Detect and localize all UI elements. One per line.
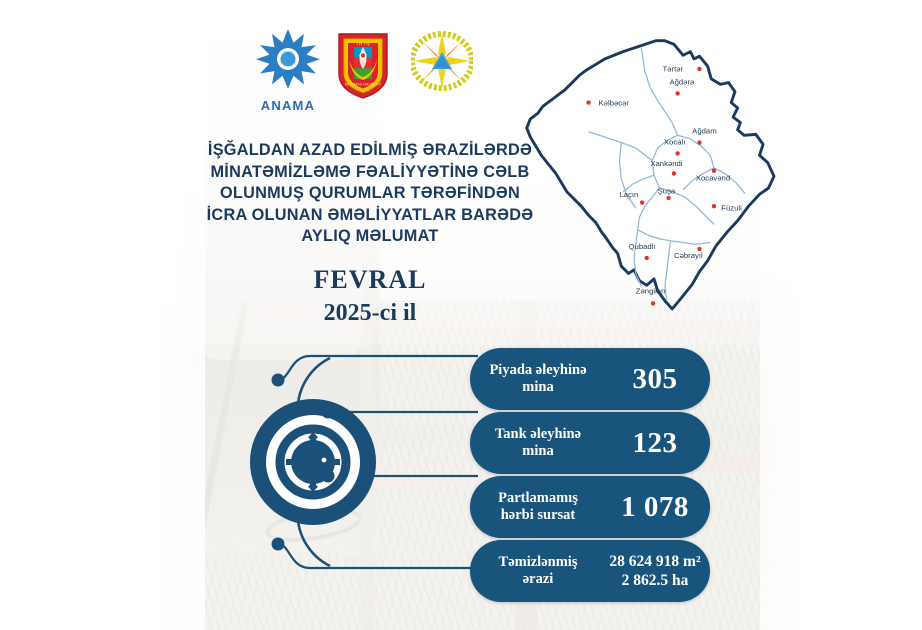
stat-value-area-sqm: 28 624 918 m² — [609, 553, 700, 570]
shield-emblem-icon: İ R İ N MÜDAFİƏ NAZİRLİYİ — [335, 30, 391, 100]
mine-target-icon — [255, 404, 371, 520]
map-label-zengilan: Zəngilan — [636, 286, 666, 295]
stat-value: 1 078 — [600, 491, 710, 523]
emergency-situations-emblem — [411, 30, 473, 97]
stat-value: 28 624 918 m² 2 862.5 ha — [600, 552, 710, 590]
photo-veil-left — [0, 0, 205, 630]
stat-label-line-2: mina — [522, 443, 553, 459]
stat-pill-uxo[interactable]: Partlamamış hərbi sursat 1 078 — [470, 476, 710, 538]
stat-label-line-2: ərazi — [523, 571, 554, 587]
stat-label-line-1: Təmizlənmiş — [499, 554, 578, 570]
headline-line-5: AYLIQ MƏLUMAT — [150, 226, 590, 248]
map-label-xocavend: Xocavənd — [696, 174, 730, 183]
stat-pill-antipersonnel-mines[interactable]: Piyada əleyhinə mina 305 — [470, 348, 710, 410]
poster-headline: İŞĞALDAN AZAD EDİLMİŞ ƏRAZİLƏRDƏ MİNATƏM… — [150, 140, 590, 248]
stat-label-line-1: Piyada əleyhinə — [489, 362, 586, 378]
stat-value: 123 — [600, 427, 710, 459]
map-label-cebrayil: Cəbrayıl — [674, 251, 703, 260]
logo-row: ANAMA İ R İ N MÜDAFİƏ NAZİRLİYİ — [243, 30, 483, 112]
stat-label: Tank əleyhinə mina — [470, 426, 600, 460]
map-label-agdere: Ağdərə — [669, 77, 694, 86]
map-label-agdam: Ağdam — [692, 126, 716, 135]
headline-line-1: İŞĞALDAN AZAD EDİLMİŞ ƏRAZİLƏRDƏ — [150, 140, 590, 162]
eight-point-star-icon — [256, 30, 320, 92]
stat-label-line-1: Tank əleyhinə — [495, 426, 581, 442]
map-label-kelbecer: Kəlbəcər — [599, 98, 630, 107]
anama-logo: ANAMA — [248, 30, 328, 113]
map-label-qubadli: Qubadlı — [629, 242, 656, 251]
headline-line-2: MİNATƏMİZLƏMƏ FƏALİYYƏTİNƏ CƏLB — [150, 162, 590, 184]
period-month: FEVRAL — [200, 265, 540, 295]
period-year: 2025-ci il — [200, 300, 540, 327]
map-label-xankendi: Xankəndi — [650, 159, 682, 168]
reporting-period: FEVRAL 2025-ci il — [200, 265, 540, 327]
ministry-of-defence-emblem: İ R İ N MÜDAFİƏ NAZİRLİYİ — [335, 30, 391, 105]
stat-label-line-2: hərbi sursat — [501, 507, 576, 523]
map-label-xocali: Xocalı — [664, 137, 685, 146]
map-label-fuzuli: Füzuli — [721, 204, 742, 213]
svg-text:MÜDAFİƏ NAZİRLİYİ: MÜDAFİƏ NAZİRLİYİ — [345, 82, 382, 87]
stat-label: Partlamamış hərbi sursat — [470, 490, 600, 524]
map-label-lacin: Laçın — [619, 190, 638, 199]
map-label-susa: Şuşa — [658, 186, 676, 195]
stat-value: 305 — [600, 363, 710, 395]
stat-label: Piyada əleyhinə mina — [470, 362, 600, 396]
stat-label-line-1: Partlamamış — [498, 490, 578, 506]
stat-label: Təmizlənmiş ərazi — [470, 554, 600, 588]
headline-line-4: İCRA OLUNAN ƏMƏLİYYATLAR BARƏDƏ — [150, 205, 590, 227]
headline-line-3: OLUNMUŞ QURUMLAR TƏRƏFİNDƏN — [150, 183, 590, 205]
map-label-terter: Tərtər — [662, 65, 683, 74]
stat-label-line-2: mina — [522, 379, 553, 395]
anama-wordmark: ANAMA — [248, 98, 328, 113]
svg-text:İ R İ N: İ R İ N — [356, 41, 369, 47]
stat-value-area-ha: 2 862.5 ha — [622, 572, 689, 589]
infographic-poster: ANAMA İ R İ N MÜDAFİƏ NAZİRLİYİ — [0, 0, 922, 630]
star-wreath-emblem-icon — [411, 30, 473, 92]
stat-pill-cleared-area[interactable]: Təmizlənmiş ərazi 28 624 918 m² 2 862.5 … — [470, 540, 710, 602]
stat-pill-antitank-mines[interactable]: Tank əleyhinə mina 123 — [470, 412, 710, 474]
